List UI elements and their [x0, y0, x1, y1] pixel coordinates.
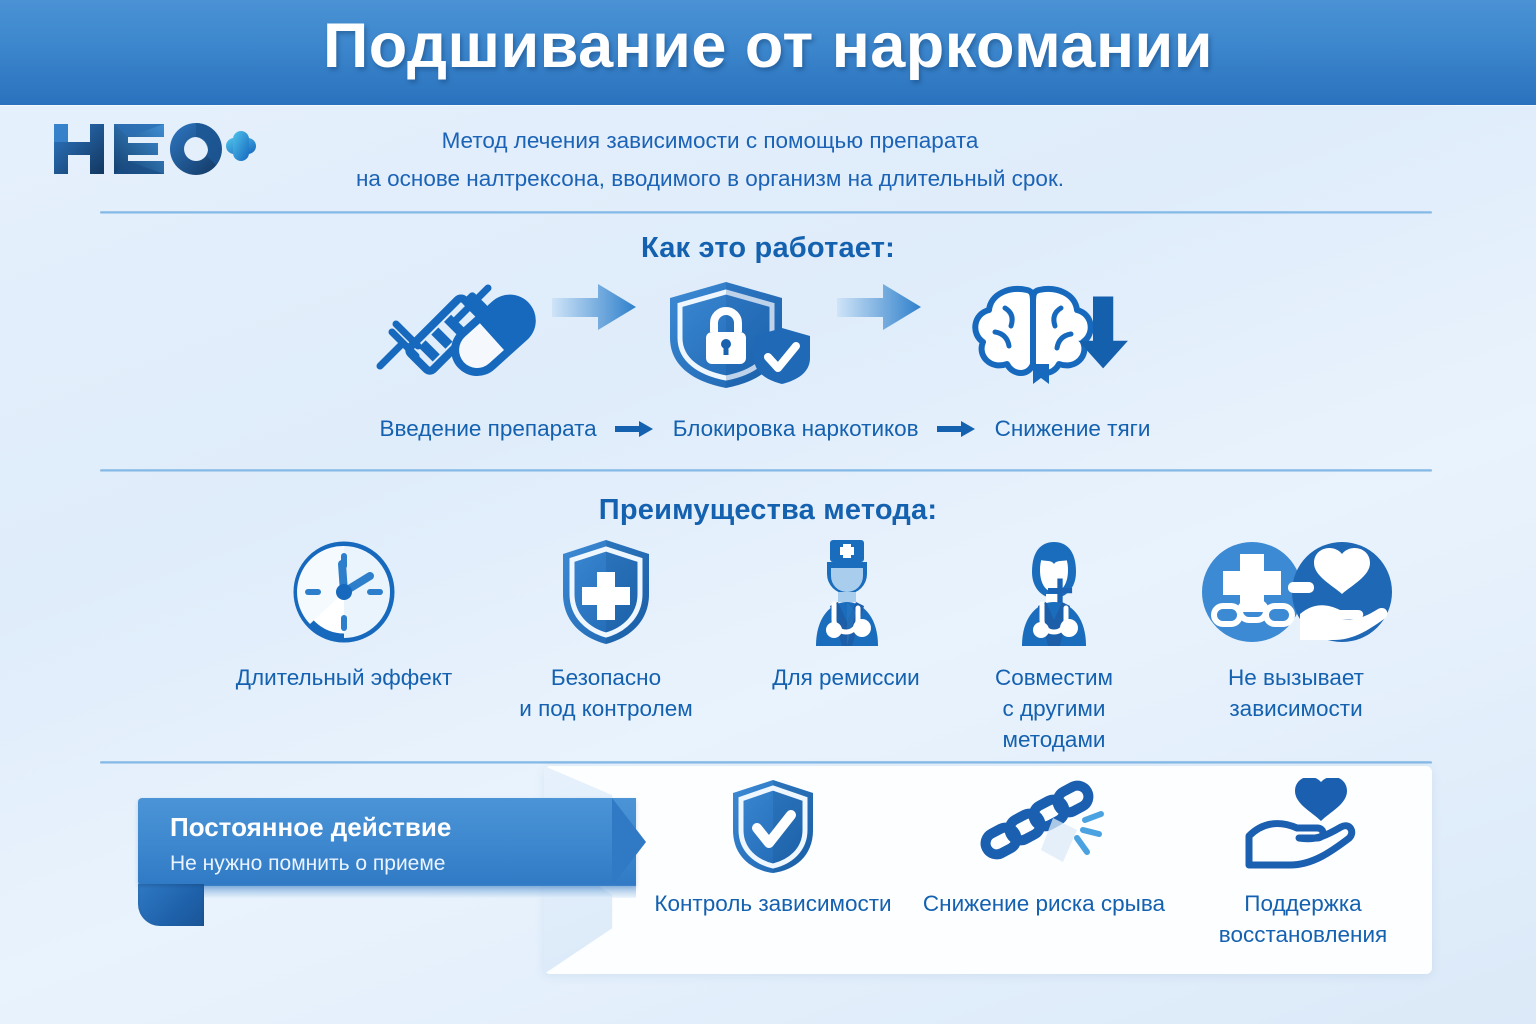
outcomes-row: Контроль зависимости	[600, 778, 1424, 968]
banner-fold	[138, 884, 204, 926]
plus-symbol: +	[1046, 568, 1074, 616]
how-it-works-icons	[370, 280, 1170, 390]
advantage-item-1: Безопасно и под контролем	[486, 538, 726, 724]
shield-lock-icon	[660, 280, 820, 390]
advantages-row: Длительный эффект Безопасно и под контро…	[96, 538, 1436, 738]
outcome-label-0: Контроль зависимости	[628, 888, 918, 919]
outcome-item-0: Контроль зависимости	[628, 778, 918, 919]
how-it-works-labels: Введение препарата Блокировка наркотиков…	[300, 412, 1230, 446]
brand-logo	[48, 118, 258, 180]
shield-cross-icon	[486, 538, 726, 646]
banner-fold-shadow	[196, 884, 636, 898]
arrow-right-icon-2	[835, 280, 925, 390]
outcome-label-1: Снижение риска срыва	[910, 888, 1178, 919]
banner-subtitle: Не нужно помнить о приеме	[170, 852, 640, 876]
how-step-label-1: Блокировка наркотиков	[673, 416, 919, 442]
advantage-label-4: Не вызывает зависимости	[1156, 662, 1436, 724]
arrow-right-icon-label-1	[615, 419, 655, 439]
advantages-heading: Преимущества метода:	[0, 494, 1536, 527]
clock-icon	[224, 538, 464, 646]
how-step-label-2: Снижение тяги	[995, 416, 1151, 442]
shield-check-icon	[628, 778, 918, 874]
advantage-label-2: Для ремиссии	[746, 662, 946, 693]
divider-top	[100, 211, 1432, 214]
cross-chain-heart-hand-icon	[1156, 538, 1436, 646]
broken-chain-icon	[910, 778, 1178, 874]
arrow-right-icon-label-2	[937, 419, 977, 439]
divider-middle	[100, 469, 1432, 472]
banner-title: Постоянное действие	[170, 812, 640, 843]
infographic-page: Подшивание от наркомании	[0, 0, 1536, 1024]
intro-text: Метод лечения зависимости с помощью преп…	[270, 122, 1150, 198]
advantage-label-1: Безопасно и под контролем	[486, 662, 726, 724]
page-header: Подшивание от наркомании	[0, 0, 1536, 105]
advantage-item-2: Для ремиссии	[746, 538, 946, 693]
hand-heart-icon	[1188, 778, 1418, 874]
syringe-pill-icon	[370, 280, 540, 390]
intro-line-1: Метод лечения зависимости с помощью преп…	[270, 122, 1150, 160]
outcome-label-2: Поддержка восстановления	[1188, 888, 1418, 950]
advantage-item-0: Длительный эффект	[224, 538, 464, 693]
how-step-label-0: Введение препарата	[380, 416, 597, 442]
divider-bottom	[100, 761, 1432, 764]
advantage-item-4: Не вызывает зависимости	[1156, 538, 1436, 724]
arrow-right-icon-1	[550, 280, 640, 390]
intro-line-2: на основе налтрексона, вводимого в орган…	[270, 160, 1150, 198]
brain-down-arrow-icon	[965, 280, 1140, 390]
how-it-works-heading: Как это работает:	[0, 232, 1536, 265]
doctor-nurse-icon	[746, 538, 946, 646]
advantage-label-0: Длительный эффект	[224, 662, 464, 693]
advantage-label-3: Совместим с другими методами	[954, 662, 1154, 755]
outcome-item-2: Поддержка восстановления	[1188, 778, 1418, 950]
outcome-item-1: Снижение риска срыва	[910, 778, 1178, 919]
neo-plus-logo-icon	[48, 118, 258, 180]
page-title: Подшивание от наркомании	[0, 10, 1536, 82]
